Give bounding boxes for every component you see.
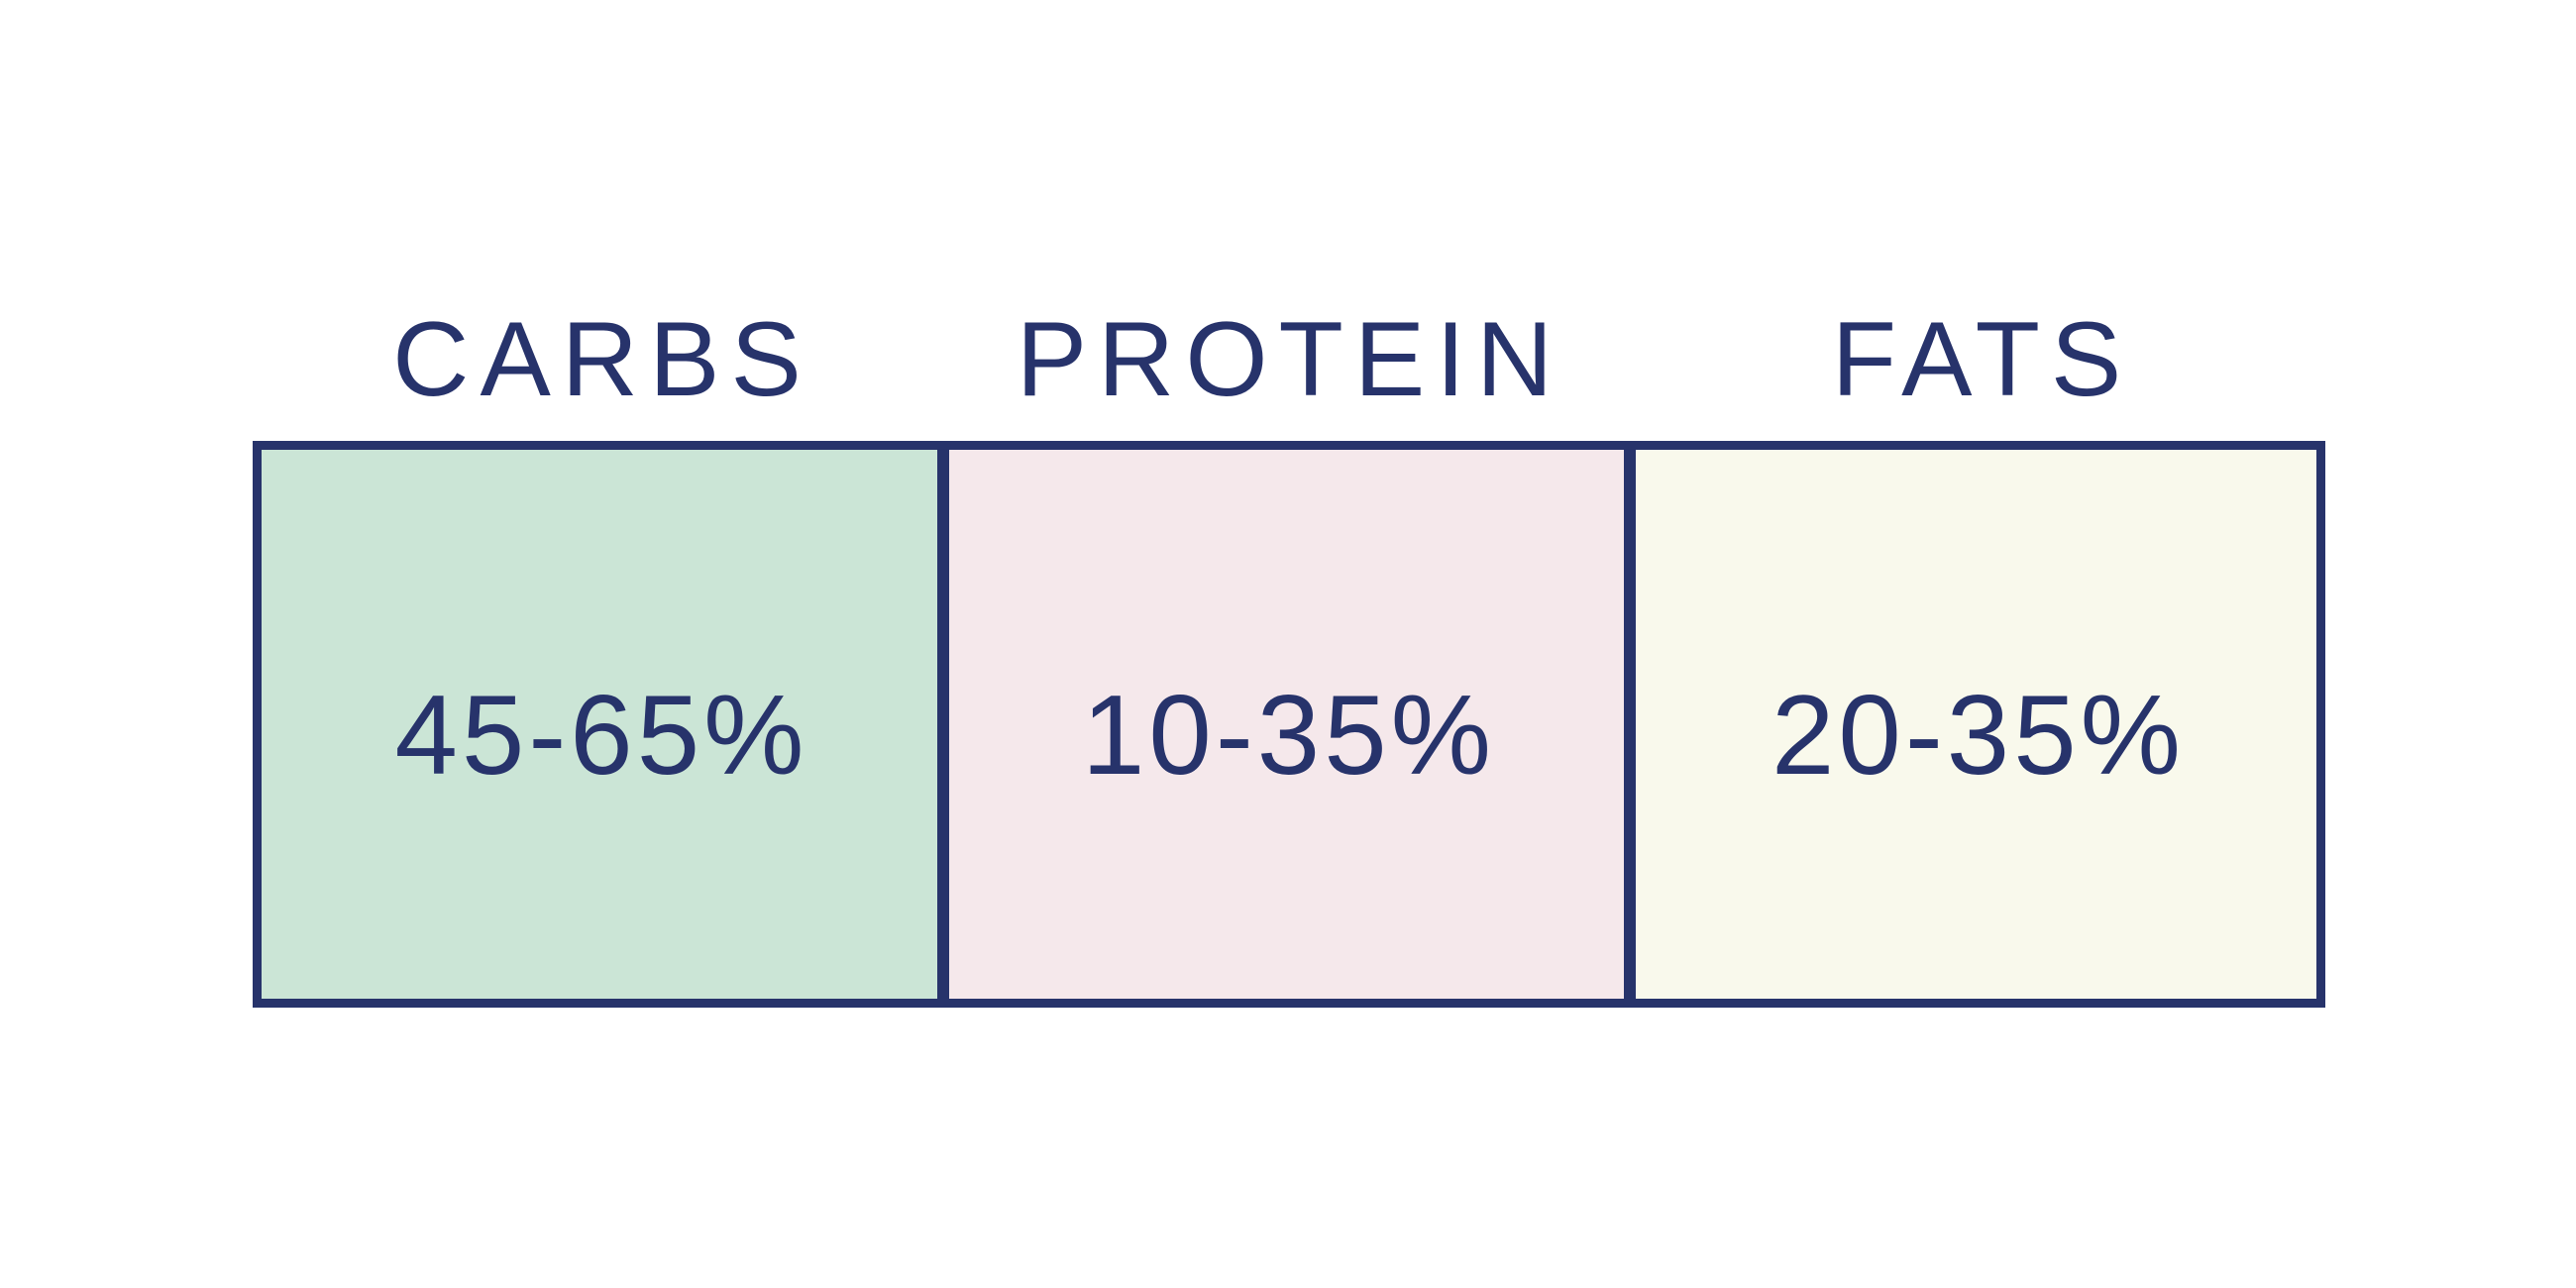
fats-range-value: 20-35%: [1768, 680, 2185, 793]
column-header-carbs: CARBS: [253, 277, 941, 441]
table-body-row: 45-65% 10-35% 20-35%: [253, 441, 2325, 1008]
table-cell-protein: 10-35%: [949, 450, 1624, 999]
column-header-protein-label: PROTEIN: [1006, 306, 1564, 412]
protein-range-value: 10-35%: [1078, 680, 1495, 793]
table-cell-carbs: 45-65%: [262, 450, 937, 999]
figure-canvas: CARBS PROTEIN FATS 45-65% 10-35% 20-35%: [0, 0, 2576, 1288]
table-cell-fats: 20-35%: [1636, 450, 2316, 999]
macronutrient-table: CARBS PROTEIN FATS 45-65% 10-35% 20-35%: [253, 277, 2325, 1008]
column-header-fats-label: FATS: [1821, 306, 2133, 412]
column-header-carbs-label: CARBS: [381, 306, 812, 412]
table-header-row: CARBS PROTEIN FATS: [253, 277, 2325, 441]
carbs-range-value: 45-65%: [391, 680, 808, 793]
column-header-fats: FATS: [1628, 277, 2325, 441]
column-header-protein: PROTEIN: [941, 277, 1628, 441]
